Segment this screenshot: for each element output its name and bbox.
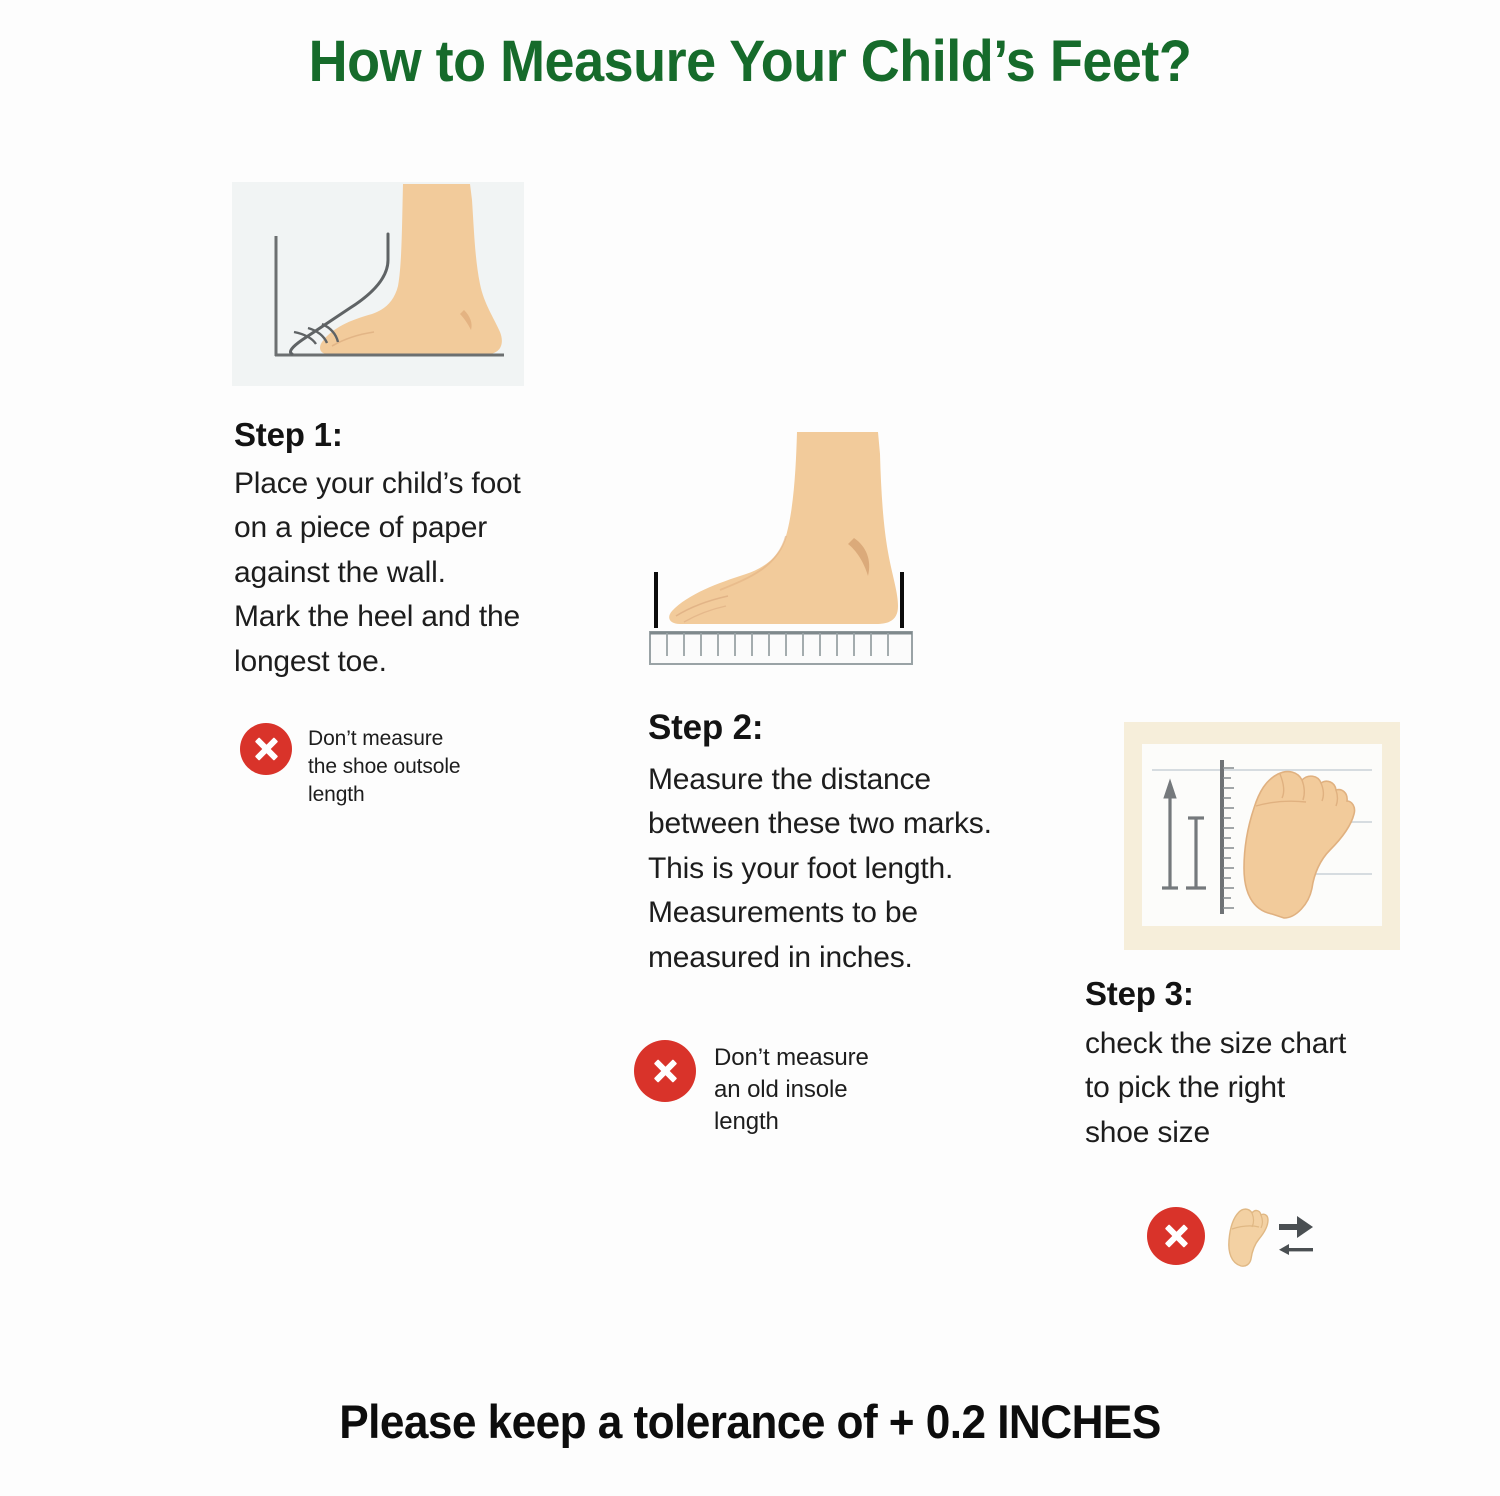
width-arrows-icon xyxy=(1275,1206,1317,1266)
step-2-body-line-2: between these two marks. xyxy=(648,802,1078,846)
step-2-body-line-5: measured in inches. xyxy=(648,936,1078,980)
step-1-body: Place your child’s foot on a piece of pa… xyxy=(234,462,564,684)
tolerance-note: Please keep a tolerance of + 0.2 INCHES xyxy=(45,1394,1455,1449)
step-3-warning-icons xyxy=(1219,1204,1317,1268)
step-1-body-line-1: Place your child’s foot xyxy=(234,462,564,506)
foot-on-ruler-svg xyxy=(640,420,940,670)
size-guide-page: How to Measure Your Child’s Feet? Step 1… xyxy=(0,0,1500,1496)
step-2-warning: Don’t measure an old insole length xyxy=(634,1040,869,1138)
step-1-warning: Don’t measure the shoe outsole length xyxy=(240,723,461,809)
foot-against-wall-svg xyxy=(232,182,524,386)
step-2-warning-line-3: length xyxy=(714,1106,869,1138)
step-2-body-line-3: This is your foot length. xyxy=(648,847,1078,891)
step-3-body: check the size chart to pick the right s… xyxy=(1085,1022,1425,1155)
step-3-body-line-3: shoe size xyxy=(1085,1111,1425,1155)
step-2-body-line-1: Measure the distance xyxy=(648,758,1078,802)
right-arrow xyxy=(1279,1216,1313,1238)
step-3-illustration xyxy=(1124,722,1400,950)
step-3-body-line-1: check the size chart xyxy=(1085,1022,1425,1066)
page-title: How to Measure Your Child’s Feet? xyxy=(53,30,1448,94)
step-1-illustration xyxy=(232,182,524,386)
step-1-body-line-3: against the wall. xyxy=(234,551,564,595)
red-x-circle-icon xyxy=(1147,1207,1205,1265)
red-x-circle-icon xyxy=(240,723,292,775)
left-arrow xyxy=(1279,1244,1313,1255)
red-x-circle-icon xyxy=(634,1040,696,1102)
step-3-body-line-2: to pick the right xyxy=(1085,1066,1425,1110)
step-1-body-line-2: on a piece of paper xyxy=(234,506,564,550)
step-2-illustration xyxy=(640,420,940,670)
step-2-warning-line-1: Don’t measure xyxy=(714,1042,869,1074)
step-3-warning xyxy=(1147,1204,1317,1268)
step-1-warning-line-3: length xyxy=(308,781,461,809)
foot-shape xyxy=(669,432,898,624)
step-1-heading: Step 1: xyxy=(234,416,343,454)
step-1-warning-text: Don’t measure the shoe outsole length xyxy=(308,723,461,809)
step-1-warning-line-2: the shoe outsole xyxy=(308,753,461,781)
step-2-warning-text: Don’t measure an old insole length xyxy=(714,1040,869,1138)
step-1-body-line-5: longest toe. xyxy=(234,640,564,684)
step-2-body: Measure the distance between these two m… xyxy=(648,758,1078,980)
step-3-heading: Step 3: xyxy=(1085,975,1194,1013)
foot-sole-icon xyxy=(1219,1204,1271,1268)
step-2-body-line-4: Measurements to be xyxy=(648,891,1078,935)
ruler xyxy=(650,632,912,664)
step-1-body-line-4: Mark the heel and the xyxy=(234,595,564,639)
step-2-heading: Step 2: xyxy=(648,708,763,748)
size-chart-svg xyxy=(1124,722,1400,950)
step-1-warning-line-1: Don’t measure xyxy=(308,725,461,753)
step-2-warning-line-2: an old insole xyxy=(714,1074,869,1106)
foot-shape xyxy=(320,184,502,354)
